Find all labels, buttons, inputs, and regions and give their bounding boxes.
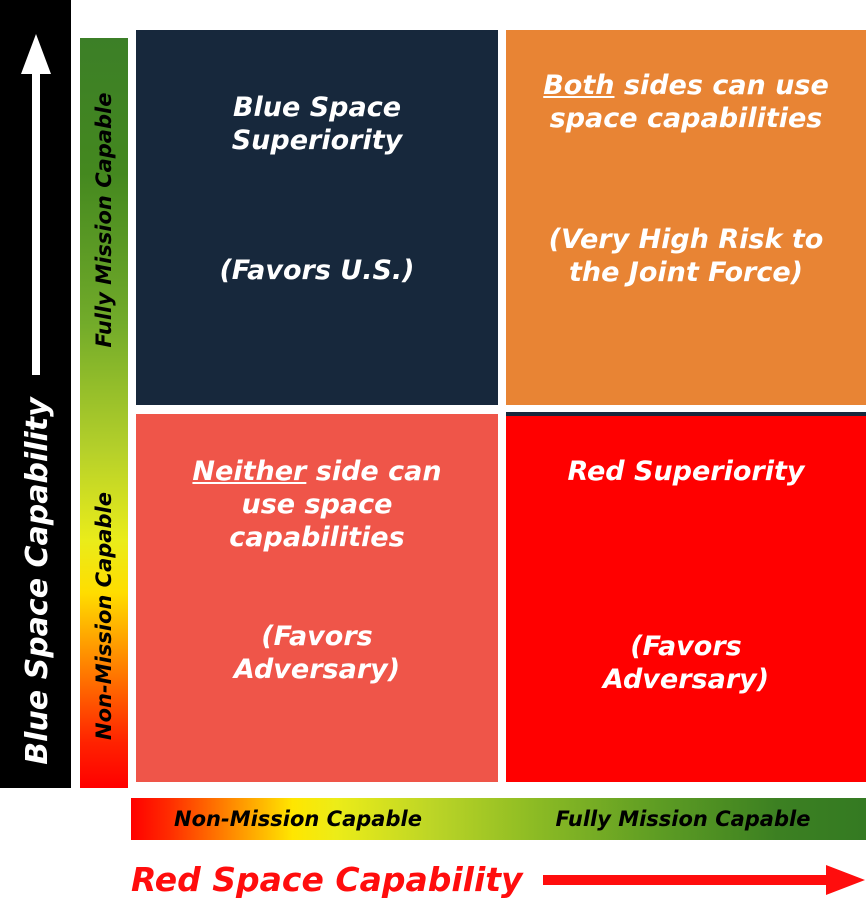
x-axis-title-row: Red Space Capability: [131, 855, 866, 912]
quadrant-emphasis-word: Both: [543, 70, 614, 101]
quadrant-secondary-line2: Adversary): [234, 654, 400, 685]
quadrant-secondary-line1: (Favors: [630, 631, 741, 662]
quadrant-secondary-line2: Adversary): [603, 664, 769, 695]
quadrant-secondary-text: (Favors Adversary): [589, 631, 783, 697]
quadrant-primary-line2: use space: [242, 489, 393, 520]
quadrant-neither-side[interactable]: Neither side can use space capabilities …: [136, 414, 498, 782]
quadrant-red-superiority[interactable]: Red Superiority (Favors Adversary): [506, 412, 866, 782]
y-axis-title-block: Blue Space Capability: [0, 0, 71, 788]
quadrant-secondary-text: (Favors Adversary): [220, 621, 414, 687]
y-axis-scale-label-low: Non-Mission Capable: [90, 488, 118, 744]
quadrant-blue-superiority[interactable]: Blue Space Superiority (Favors U.S.): [136, 30, 498, 405]
y-axis-gradient-scale: Fully Mission Capable Non-Mission Capabl…: [80, 38, 128, 788]
y-axis-scale-label-high: Fully Mission Capable: [90, 65, 118, 375]
quadrant-primary-text: Red Superiority: [554, 456, 819, 489]
quadrant-primary-text: Neither side can use space capabilities: [178, 456, 455, 555]
quadrant-both-sides[interactable]: Both sides can use space capabilities (V…: [506, 30, 866, 405]
quadrant-primary-text: Blue Space Superiority: [218, 92, 417, 158]
right-arrow-icon: [543, 863, 866, 897]
quadrant-secondary-line2: the Joint Force): [569, 257, 803, 288]
quadrant-secondary-line1: (Very High Risk to: [549, 224, 824, 255]
x-axis-title: Red Space Capability: [131, 855, 523, 905]
quadrant-primary-line2: space capabilities: [550, 103, 823, 134]
quadrant-emphasis-word: Neither: [192, 456, 306, 487]
quadrant-primary-text: Both sides can use space capabilities: [529, 70, 843, 136]
quadrant-primary-line2: Superiority: [232, 125, 403, 156]
quadrant-secondary-line1: (Favors: [261, 621, 372, 652]
x-axis-scale-label-low: Non-Mission Capable: [153, 798, 443, 840]
quadrant-secondary-text: (Very High Risk to the Joint Force): [535, 224, 838, 290]
quadrant-secondary-text: (Favors U.S.): [205, 255, 428, 288]
x-axis-scale-label-high: Fully Mission Capable: [515, 798, 851, 840]
y-axis-title: Blue Space Capability: [2, 236, 71, 788]
x-axis-gradient-scale: Non-Mission Capable Fully Mission Capabl…: [131, 798, 866, 840]
quadrant-primary-rest-line1: sides can use: [614, 70, 828, 101]
quadrant-primary-line1: Blue Space: [233, 92, 401, 123]
quadrant-primary-rest-line1: side can: [306, 456, 441, 487]
quadrant-primary-line3: capabilities: [229, 522, 404, 553]
